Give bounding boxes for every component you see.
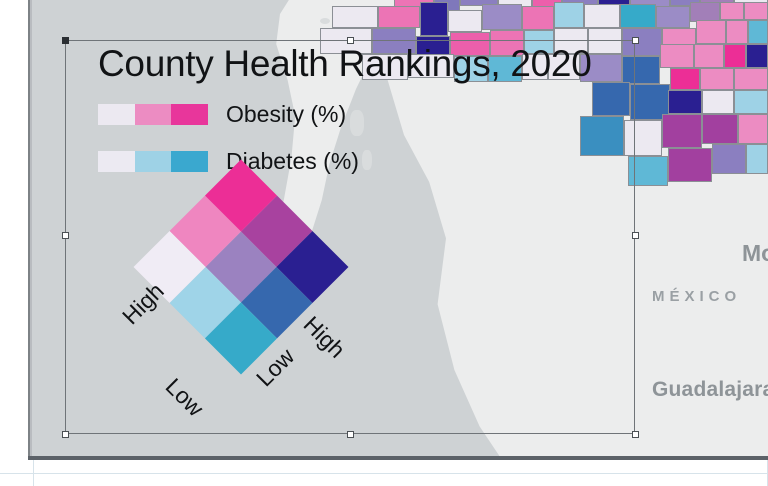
county-polygon[interactable] bbox=[420, 2, 448, 36]
county-polygon[interactable] bbox=[448, 10, 482, 32]
county-polygon[interactable] bbox=[522, 6, 554, 30]
design-canvas[interactable]: Mo MÉXICO Guadalajara County Health Rank… bbox=[32, 0, 768, 456]
legend-row-obesity[interactable]: Obesity (%) bbox=[98, 101, 346, 128]
county-polygon[interactable] bbox=[668, 148, 712, 182]
county-polygon[interactable] bbox=[734, 68, 768, 90]
swatch-diabetes-low bbox=[98, 151, 135, 172]
swatch-bar-obesity bbox=[98, 104, 208, 125]
county-polygon[interactable] bbox=[702, 90, 734, 114]
county-polygon[interactable] bbox=[702, 114, 738, 144]
swatch-bar-diabetes bbox=[98, 151, 208, 172]
worksheet-gridline-v bbox=[33, 460, 34, 486]
swatch-diabetes-high bbox=[171, 151, 208, 172]
county-polygon[interactable] bbox=[670, 68, 700, 90]
bivariate-label-obesity-low: Low bbox=[160, 373, 209, 422]
county-polygon[interactable] bbox=[744, 2, 768, 20]
county-polygon[interactable] bbox=[668, 90, 702, 114]
county-polygon[interactable] bbox=[724, 44, 746, 68]
county-polygon[interactable] bbox=[660, 44, 694, 68]
city-label-monterrey: Mo bbox=[742, 240, 768, 267]
legend-label-obesity: Obesity (%) bbox=[226, 101, 346, 128]
county-polygon[interactable] bbox=[690, 2, 720, 22]
county-polygon[interactable] bbox=[734, 90, 768, 114]
county-polygon[interactable] bbox=[378, 6, 420, 28]
county-polygon[interactable] bbox=[700, 68, 734, 90]
swatch-obesity-high bbox=[171, 104, 208, 125]
county-polygon[interactable] bbox=[584, 4, 620, 28]
swatch-obesity-mid bbox=[135, 104, 172, 125]
county-polygon[interactable] bbox=[748, 20, 768, 44]
bivariate-label-diabetes-high: High bbox=[298, 311, 351, 364]
county-polygon[interactable] bbox=[482, 4, 522, 30]
application-window: Mo MÉXICO Guadalajara County Health Rank… bbox=[0, 0, 768, 486]
county-polygon[interactable] bbox=[332, 6, 378, 28]
worksheet-gridline-h bbox=[0, 473, 768, 474]
county-polygon[interactable] bbox=[656, 6, 690, 28]
county-polygon[interactable] bbox=[662, 114, 702, 148]
swatch-obesity-low bbox=[98, 104, 135, 125]
county-polygon[interactable] bbox=[746, 144, 768, 174]
left-page-margin bbox=[0, 0, 28, 459]
bivariate-legend[interactable]: High Low Low High bbox=[121, 183, 371, 433]
county-polygon[interactable] bbox=[554, 2, 584, 28]
swatch-diabetes-mid bbox=[135, 151, 172, 172]
country-label-mexico: MÉXICO bbox=[652, 288, 741, 305]
county-polygon[interactable] bbox=[738, 114, 768, 144]
page-title: County Health Rankings, 2020 bbox=[98, 45, 591, 82]
county-polygon[interactable] bbox=[726, 20, 748, 44]
county-polygon[interactable] bbox=[712, 144, 746, 174]
county-polygon[interactable] bbox=[720, 2, 744, 20]
worksheet-area[interactable] bbox=[0, 460, 768, 486]
graphic-content-group[interactable]: County Health Rankings, 2020 Obesity (%)… bbox=[65, 40, 635, 434]
county-polygon[interactable] bbox=[696, 20, 726, 44]
county-polygon[interactable] bbox=[694, 44, 724, 68]
county-polygon[interactable] bbox=[620, 4, 656, 28]
city-label-guadalajara: Guadalajara bbox=[652, 378, 768, 402]
county-polygon[interactable] bbox=[746, 44, 768, 68]
